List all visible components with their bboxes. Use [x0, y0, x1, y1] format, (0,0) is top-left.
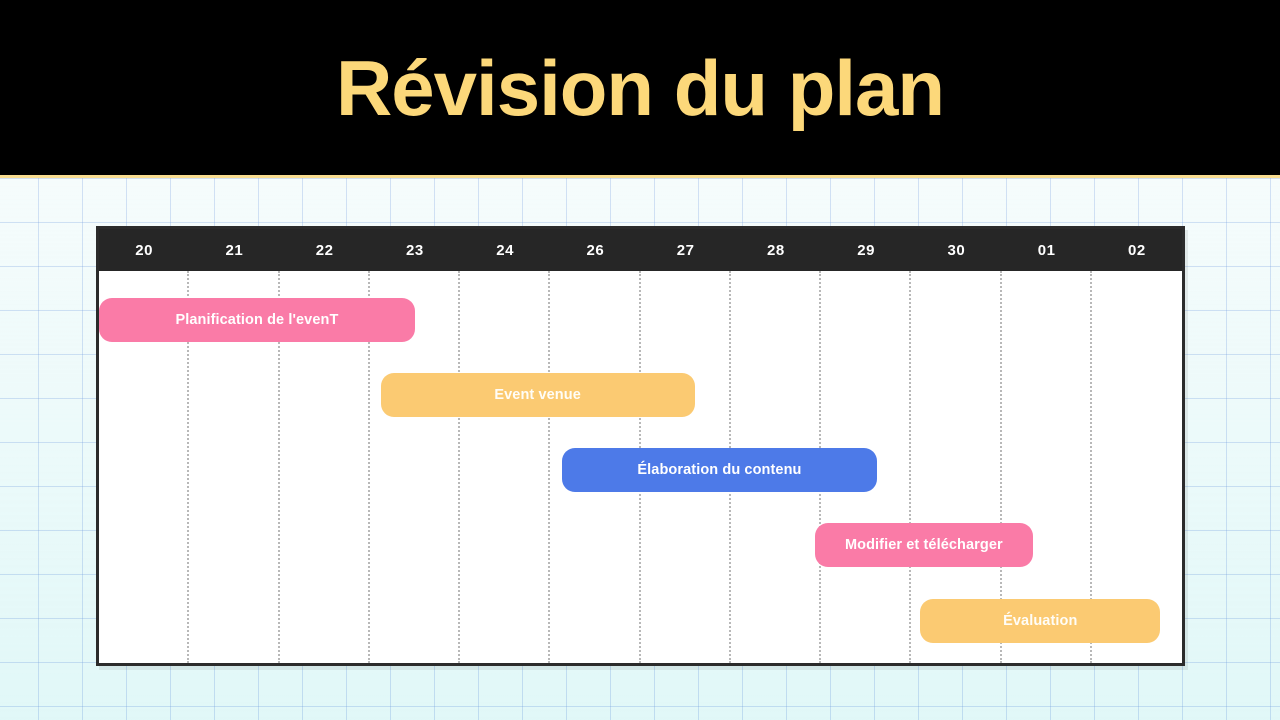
- gantt-grid-body: Planification de l'evenTEvent venueÉlabo…: [99, 271, 1182, 663]
- date-header-cell[interactable]: 24: [460, 229, 550, 271]
- gantt-task-row: Modifier et télécharger: [99, 523, 1182, 567]
- page-title: Révision du plan: [336, 49, 944, 127]
- gantt-task-row: Évaluation: [99, 599, 1182, 643]
- date-header-cell[interactable]: 21: [189, 229, 279, 271]
- gantt-chart-panel: 202122232426272829300102 Planification d…: [96, 226, 1185, 666]
- gantt-task-bar[interactable]: Évaluation: [920, 599, 1160, 643]
- date-header-cell[interactable]: 23: [370, 229, 460, 271]
- gantt-task-row: Planification de l'evenT: [99, 298, 1182, 342]
- date-header-cell[interactable]: 22: [280, 229, 370, 271]
- date-header-cell[interactable]: 30: [911, 229, 1001, 271]
- gantt-task-bar[interactable]: Élaboration du contenu: [562, 448, 877, 492]
- date-header-cell[interactable]: 29: [821, 229, 911, 271]
- gantt-task-bar[interactable]: Event venue: [381, 373, 695, 417]
- gantt-date-header-row: 202122232426272829300102: [99, 229, 1182, 271]
- gantt-task-row: Event venue: [99, 373, 1182, 417]
- date-header-cell[interactable]: 02: [1092, 229, 1182, 271]
- slide-canvas: Révision du plan 20212223242627282930010…: [0, 0, 1280, 720]
- date-header-cell[interactable]: 01: [1002, 229, 1092, 271]
- title-band: Révision du plan: [0, 0, 1280, 175]
- date-header-cell[interactable]: 20: [99, 229, 189, 271]
- date-header-cell[interactable]: 26: [550, 229, 640, 271]
- gantt-task-row: Élaboration du contenu: [99, 448, 1182, 492]
- gantt-task-bar[interactable]: Modifier et télécharger: [815, 523, 1033, 567]
- date-header-cell[interactable]: 28: [731, 229, 821, 271]
- date-header-cell[interactable]: 27: [641, 229, 731, 271]
- title-underline-rule: [0, 175, 1280, 178]
- gantt-task-bar[interactable]: Planification de l'evenT: [99, 298, 415, 342]
